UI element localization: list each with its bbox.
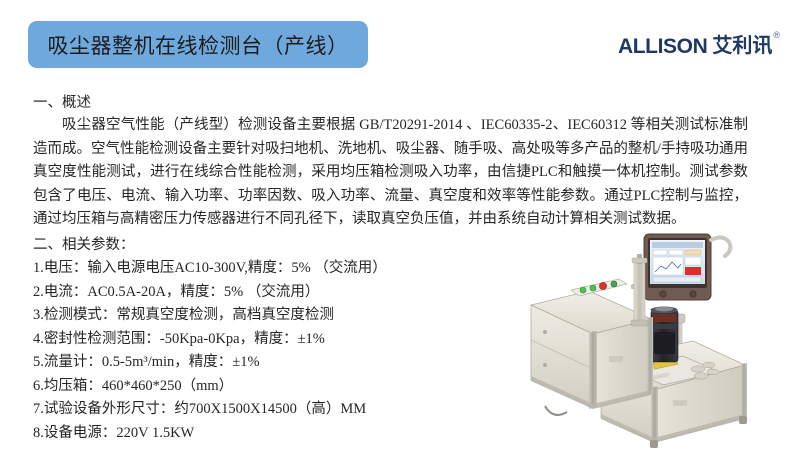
machine-photo [523,228,800,450]
logo-latin-text: ALLISON [618,36,707,57]
cylinder-body [634,261,645,323]
hmi-screen-chart [653,257,683,275]
bench-foot [739,416,747,424]
cabinet-caster [545,406,567,415]
indicator-light-green[interactable] [611,281,617,287]
cabinet-nameplate [609,356,623,362]
test-aperture [694,373,708,379]
cabinet-latch[interactable] [543,363,547,367]
bench-corner-post [741,363,747,419]
page-title-box: 吸尘器整机在线检测台（产线） [28,21,368,68]
hmi-screen-titlebar [652,242,703,248]
test-aperture [691,366,705,372]
hmi-screen-field [653,250,667,255]
hmi-screen-alarm [685,267,701,275]
bench-label [673,400,687,406]
indicator-light-green[interactable] [590,285,596,291]
company-logo: ALLISON 艾利讯 ® [618,36,780,57]
hmi-screen-statusbar [653,277,701,282]
hmi-button[interactable] [690,291,696,297]
hmi-button[interactable] [660,291,666,297]
overview-heading: 一、概述 [33,92,748,114]
overview-paragraph: 吸尘器空气性能（产线型）检测设备主要根据 GB/T20291-2014 、IEC… [33,114,748,232]
page-header: 吸尘器整机在线检测台（产线） ALLISON 艾利讯 ® [0,0,800,88]
test-aperture [707,369,719,375]
registered-trademark-icon: ® [773,31,780,40]
hmi-screen-readout [685,257,701,265]
hmi-screen-field [669,250,683,255]
cabinet-latch[interactable] [543,330,547,334]
logo-cjk-text: 艾利讯 [712,36,772,56]
hmi-cable [711,237,730,256]
emergency-stop-button[interactable] [599,282,606,289]
button-panel-face [571,279,627,296]
indicator-light-green[interactable] [580,287,586,293]
cylinder-mount [631,320,648,326]
left-cabinet-post [647,317,653,395]
hmi-screen-field [685,250,701,255]
left-cabinet-post [589,331,597,409]
bench-foot [650,440,658,448]
cylinder-cap [632,258,647,263]
page-title: 吸尘器整机在线检测台（产线） [48,30,349,60]
test-aperture [703,362,715,368]
control-button-panel [571,279,638,296]
bench-corner-post [651,386,658,443]
